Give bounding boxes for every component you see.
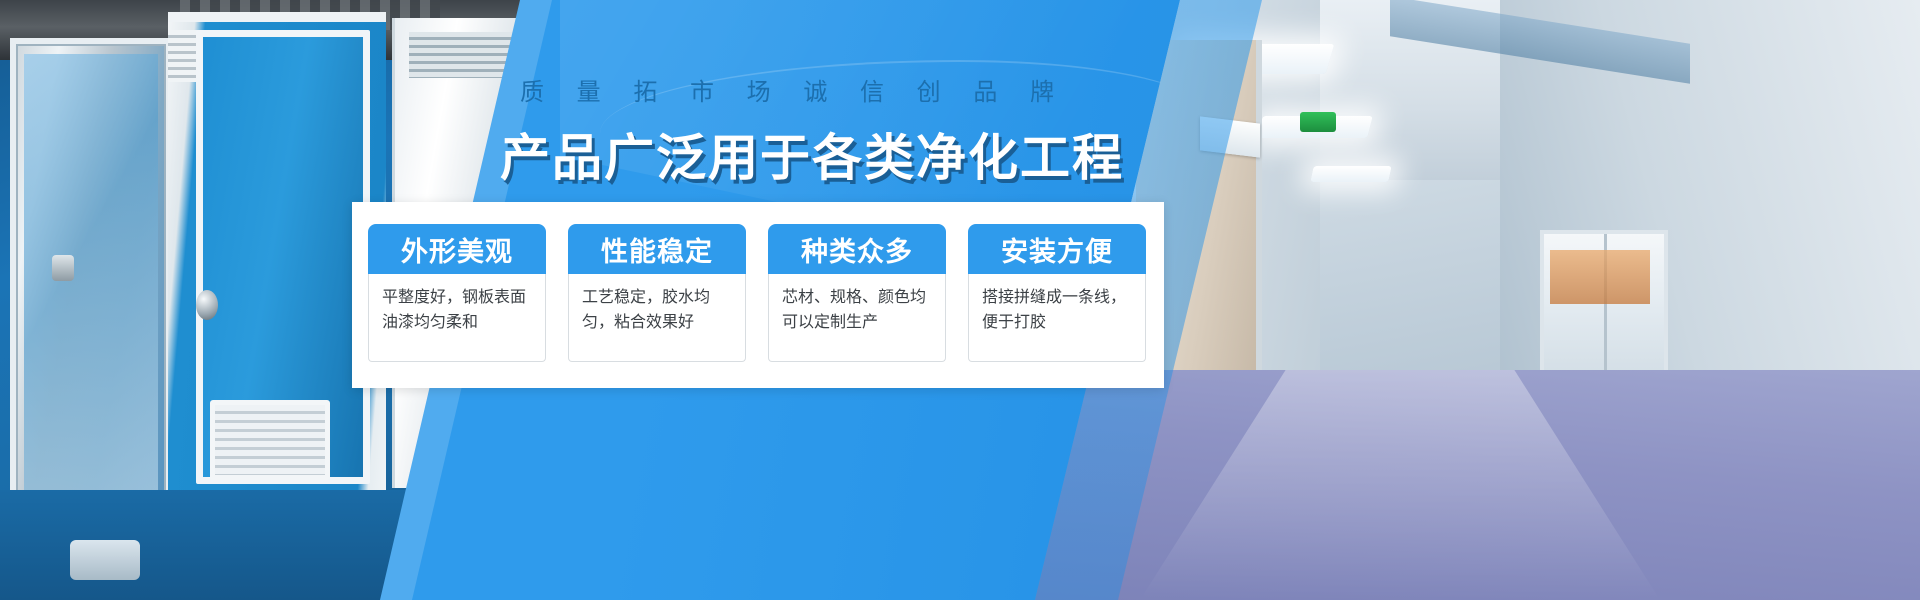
exit-sign-icon [1300,112,1336,132]
feature-desc-4: 搭接拼缝成一条线，便于打胶 [968,274,1146,362]
feature-desc-2: 工艺稳定，胶水均匀，粘合效果好 [568,274,746,362]
feature-desc-3: 芯材、规格、颜色均可以定制生产 [768,274,946,362]
door-window [1550,250,1650,304]
ceiling-light-3 [1310,166,1391,182]
banner-headline: 产品广泛用于各类净化工程 [500,118,1120,190]
cabin-glass-panel [24,54,158,554]
promo-banner: 质 量 拓 市 场 诚 信 创 品 牌 产品广泛用于各类净化工程 外形美观 平整… [0,0,1920,600]
cabin-vent-louver [210,400,330,480]
feature-list: 外形美观 平整度好，钢板表面油漆均匀柔和 性能稳定 工艺稳定，胶水均匀，粘合效果… [368,224,1146,362]
floor-object [70,540,140,580]
feature-title-2: 性能稳定 [568,224,746,274]
feature-title-1: 外形美观 [368,224,546,274]
banner-tagline: 质 量 拓 市 场 诚 信 创 品 牌 [520,72,1080,107]
feature-item-1[interactable]: 外形美观 平整度好，钢板表面油漆均匀柔和 [368,224,546,362]
door-handle [196,290,218,320]
feature-item-4[interactable]: 安装方便 搭接拼缝成一条线，便于打胶 [968,224,1146,362]
feature-item-2[interactable]: 性能稳定 工艺稳定，胶水均匀，粘合效果好 [568,224,746,362]
feature-item-3[interactable]: 种类众多 芯材、规格、颜色均可以定制生产 [768,224,946,362]
feature-title-4: 安装方便 [968,224,1146,274]
door-lock [52,255,74,281]
feature-desc-1: 平整度好，钢板表面油漆均匀柔和 [368,274,546,362]
feature-title-3: 种类众多 [768,224,946,274]
